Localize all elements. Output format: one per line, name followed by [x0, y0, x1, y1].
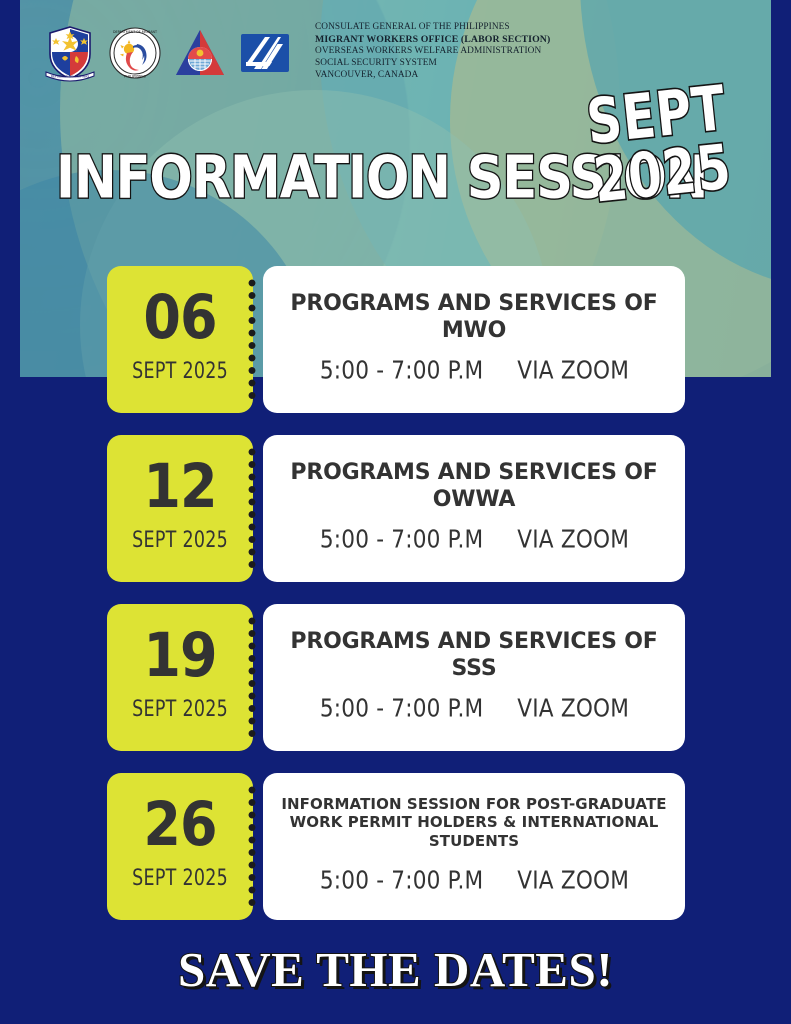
org-line-consulate: CONSULATE GENERAL OF THE PHILIPPINES	[315, 22, 550, 34]
date-month-year: SEPT 2025	[132, 865, 228, 891]
session-details: PROGRAMS AND SERVICES OF SSS 5:00 - 7:00…	[263, 604, 685, 751]
philippine-coat-of-arms-logo: REPUBLIKA NG PILIPINAS	[42, 22, 98, 84]
session-platform: VIA ZOOM	[517, 695, 629, 724]
session-details: PROGRAMS AND SERVICES OF OWWA 5:00 - 7:0…	[263, 435, 685, 582]
date-day: 12	[143, 457, 216, 517]
owwa-triangle-logo	[172, 22, 228, 84]
session-meta: 5:00 - 7:00 P.M VIA ZOOM	[319, 526, 628, 555]
session-time: 5:00 - 7:00 P.M	[319, 357, 483, 386]
date-month-year: SEPT 2025	[132, 358, 228, 384]
session-title: PROGRAMS AND SERVICES OF MWO	[279, 291, 669, 345]
agency-logo-row: REPUBLIKA NG PILIPINAS DEPARTMENT OF MIG…	[42, 22, 293, 84]
department-of-migrant-workers-seal: DEPARTMENT OF MIGRANT PHILIPPINES	[107, 22, 163, 84]
session-platform: VIA ZOOM	[517, 867, 629, 896]
organization-address-block: CONSULATE GENERAL OF THE PHILIPPINES MIG…	[315, 22, 550, 82]
schedule-row[interactable]: 06 SEPT 2025 PROGRAMS AND SERVICES OF MW…	[107, 266, 685, 413]
session-time: 5:00 - 7:00 P.M	[319, 526, 483, 555]
session-details: INFORMATION SESSION FOR POST-GRADUATE WO…	[263, 773, 685, 920]
perforation-dots-icon	[247, 785, 257, 908]
date-chip: 26 SEPT 2025	[107, 773, 253, 920]
session-details: PROGRAMS AND SERVICES OF MWO 5:00 - 7:00…	[263, 266, 685, 413]
schedule-row[interactable]: 12 SEPT 2025 PROGRAMS AND SERVICES OF OW…	[107, 435, 685, 582]
session-meta: 5:00 - 7:00 P.M VIA ZOOM	[319, 695, 628, 724]
org-line-sss: SOCIAL SECURITY SYSTEM	[315, 58, 550, 70]
session-title: INFORMATION SESSION FOR POST-GRADUATE WO…	[279, 795, 669, 851]
date-day: 06	[143, 288, 216, 348]
schedule-row[interactable]: 19 SEPT 2025 PROGRAMS AND SERVICES OF SS…	[107, 604, 685, 751]
date-chip: 12 SEPT 2025	[107, 435, 253, 582]
org-line-location: VANCOUVER, CANADA	[315, 70, 550, 82]
perforation-dots-icon	[247, 447, 257, 570]
schedule-list: 06 SEPT 2025 PROGRAMS AND SERVICES OF MW…	[107, 266, 685, 920]
session-platform: VIA ZOOM	[517, 357, 629, 386]
session-time: 5:00 - 7:00 P.M	[319, 867, 483, 896]
svg-text:DEPARTMENT OF MIGRANT: DEPARTMENT OF MIGRANT	[113, 30, 158, 34]
perforation-dots-icon	[247, 278, 257, 401]
svg-text:PHILIPPINES: PHILIPPINES	[124, 74, 146, 78]
org-line-owwa: OVERSEAS WORKERS WELFARE ADMINISTRATION	[315, 46, 550, 58]
svg-text:REPUBLIKA NG PILIPINAS: REPUBLIKA NG PILIPINAS	[51, 75, 89, 79]
org-line-mwo: MIGRANT WORKERS OFFICE (LABOR SECTION)	[315, 34, 550, 47]
date-day: 19	[143, 626, 216, 686]
date-chip: 19 SEPT 2025	[107, 604, 253, 751]
date-day: 26	[143, 795, 216, 855]
session-title: PROGRAMS AND SERVICES OF OWWA	[279, 460, 669, 514]
date-month-year: SEPT 2025	[132, 696, 228, 722]
sss-logo	[237, 22, 293, 84]
save-the-dates-banner: SAVE THE DATES!	[0, 941, 791, 998]
month-badge: SEPT 2025	[584, 80, 735, 211]
session-platform: VIA ZOOM	[517, 526, 629, 555]
session-meta: 5:00 - 7:00 P.M VIA ZOOM	[319, 357, 628, 386]
poster-root: REPUBLIKA NG PILIPINAS DEPARTMENT OF MIG…	[0, 0, 791, 1024]
date-month-year: SEPT 2025	[132, 527, 228, 553]
month-badge-year: 2025	[590, 138, 735, 211]
date-chip: 06 SEPT 2025	[107, 266, 253, 413]
perforation-dots-icon	[247, 616, 257, 739]
session-time: 5:00 - 7:00 P.M	[319, 695, 483, 724]
schedule-row[interactable]: 26 SEPT 2025 INFORMATION SESSION FOR POS…	[107, 773, 685, 920]
session-title: PROGRAMS AND SERVICES OF SSS	[279, 629, 669, 683]
session-meta: 5:00 - 7:00 P.M VIA ZOOM	[319, 867, 628, 896]
